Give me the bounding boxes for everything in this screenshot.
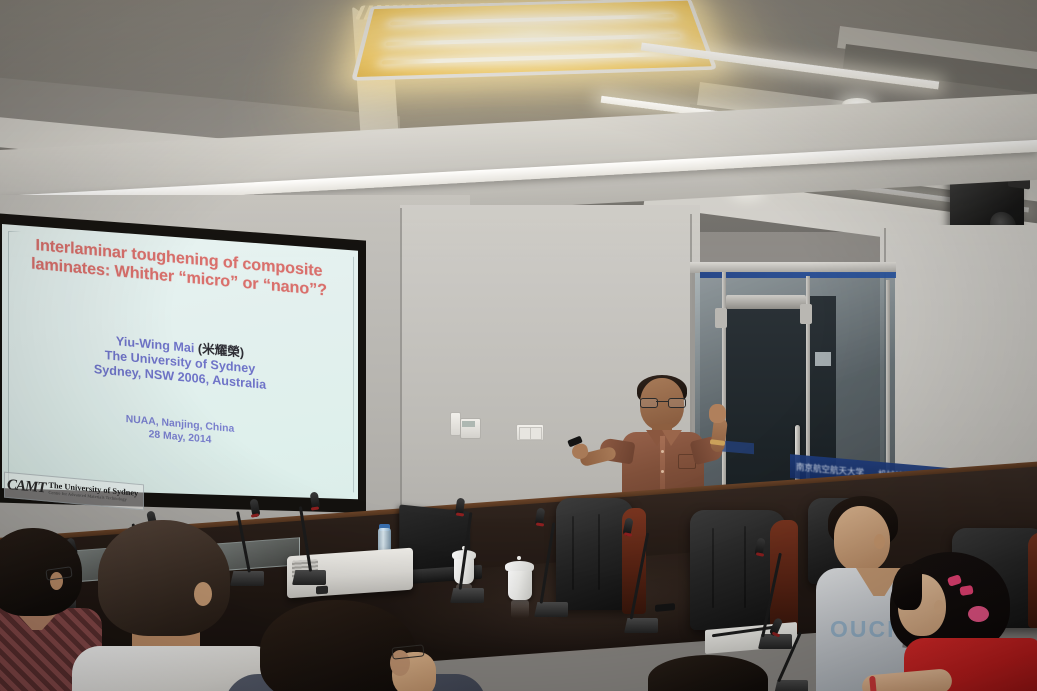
eyeglasses-icon (640, 398, 684, 406)
door-hinge-bottom (800, 304, 812, 324)
door-hinge-top (715, 308, 727, 328)
audience-member-right-woman (890, 552, 1037, 691)
teacup-lid-2 (505, 561, 534, 571)
hair-scrunchie-icon (968, 606, 989, 622)
teacup-icon-2[interactable] (508, 568, 532, 600)
audience-man-ear (874, 534, 885, 549)
audience-woman-hair-front (892, 564, 922, 610)
teacup-reflection-2 (511, 600, 529, 618)
conference-room-photo: Interlaminar toughening of composite lam… (0, 0, 1037, 691)
wall-light-switch-icon[interactable] (516, 424, 544, 441)
foreground-2-hair (98, 520, 230, 636)
foreground-member-navy-shirt (242, 600, 472, 691)
audience-woman-ear (934, 600, 944, 614)
presenter-hand-right (709, 404, 726, 423)
glass-door-blue-trim (700, 272, 896, 278)
teacup-knob-2 (517, 556, 521, 560)
camt-monogram-icon: CAMT (7, 477, 46, 496)
thermostat-display (462, 421, 475, 427)
foreground-4-hair (648, 655, 768, 691)
foreground-2-ear (194, 582, 212, 606)
projector-lens-icon (316, 586, 328, 595)
door-closer-icon (726, 295, 806, 309)
foreground-member-center-head (648, 655, 778, 691)
door-sign (815, 352, 831, 366)
ceiling-panel-light-icon (351, 0, 717, 81)
